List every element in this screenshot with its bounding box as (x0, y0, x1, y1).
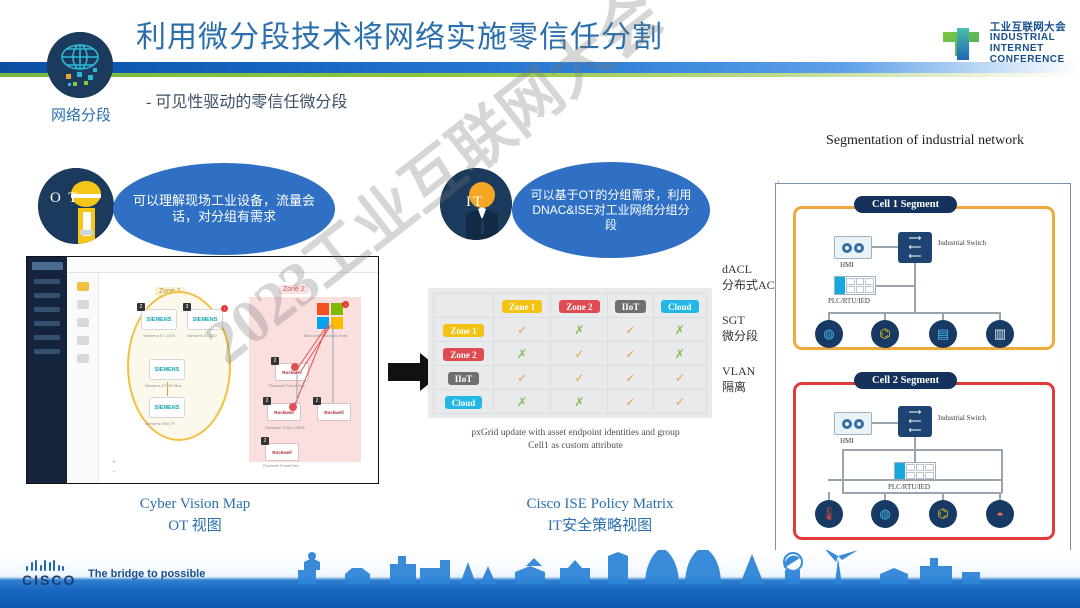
conference-logo: 工业互联网大会 INDUSTRIAL INTERNET CONFERENCE (939, 22, 1066, 66)
sidebar-item[interactable] (34, 349, 60, 354)
policy-cell[interactable]: ✗ (653, 318, 706, 342)
siemens-device[interactable]: SIEMENS (187, 309, 223, 330)
device-gauge-cell1: ◍ (815, 320, 843, 348)
column-header-zone1: Zone 1 (494, 294, 551, 318)
cisco-bars-icon (26, 560, 76, 571)
page-subtitle: - 可见性驱动的零信任微分段 (146, 88, 347, 112)
hmi-label-cell1: HMI (840, 261, 854, 269)
bus-line (842, 449, 1002, 451)
alert-badge: ! (221, 305, 228, 312)
policy-cell[interactable]: ✗ (653, 342, 706, 366)
allow-icon: ✓ (574, 371, 584, 385)
conference-logo-mark (939, 22, 983, 66)
ot-speech-bubble: 可以理解现场工业设备，流量会话，对分组有需求 (113, 163, 335, 255)
allow-icon: ✓ (625, 371, 635, 385)
policy-cell[interactable]: ✓ (551, 342, 608, 366)
bus-line (828, 312, 1000, 314)
link-line (914, 263, 916, 313)
siemens-device[interactable]: SIEMENS (149, 359, 185, 380)
layout-icon[interactable] (77, 336, 89, 345)
device-gauge-cell2: ◍ (871, 500, 899, 528)
hmi-label-cell2: HMI (840, 437, 854, 445)
segmentation-diagram: Cell 1 Segment HMI ⟶ ⟵ ⟵ Industrial Swit… (775, 183, 1071, 555)
allow-icon: ✓ (625, 323, 635, 337)
row-header-iiot: IIoT (434, 366, 494, 390)
policy-matrix-body: Zone 1✓✗✓✗Zone 2✗✓✓✗IIoT✓✓✓✓Cloud✗✗✓✓ (434, 318, 707, 414)
cyber-vision-caption-en: Cyber Vision Map (90, 494, 300, 516)
policy-cell[interactable]: ✓ (608, 342, 653, 366)
policy-cell[interactable]: ✗ (494, 390, 551, 414)
export-icon[interactable] (77, 354, 89, 363)
alert-badge: ! (342, 301, 349, 308)
arrow-left-icon: ⟵ (909, 252, 922, 261)
row-header-zone2: Zone 2 (434, 342, 494, 366)
switch-label-cell2: Industrial Switch (938, 414, 986, 422)
plc-label-cell2: PLC/RTU/IED (888, 483, 930, 491)
policy-cell[interactable]: ✓ (653, 390, 706, 414)
cyber-vision-caption-cn: OT 视图 (90, 516, 300, 538)
matrix-corner-cell (434, 294, 494, 318)
bus-line (828, 479, 1002, 481)
cyber-vision-topbar (67, 257, 379, 273)
deny-icon: ✗ (574, 395, 584, 409)
policy-matrix-table: Zone 1 Zone 2 IIoT Cloud Zone 1✓✗✓✗Zone … (433, 293, 707, 414)
device-robot-arm-cell1: ⌬ (871, 320, 899, 348)
allow-icon: ✓ (517, 371, 527, 385)
gears-icon (838, 416, 868, 432)
rockwell-device[interactable]: Rockwell (265, 443, 299, 461)
ise-caption-en: Cisco ISE Policy Matrix (500, 494, 700, 516)
link-line (1001, 449, 1003, 493)
policy-cell[interactable]: ✓ (653, 366, 706, 390)
policy-cell[interactable]: ✓ (608, 318, 653, 342)
ot-persona-label: O T (50, 190, 79, 207)
row-header-zone1: Zone 1 (434, 318, 494, 342)
link-line (876, 285, 915, 287)
allow-icon: ✓ (625, 395, 635, 409)
device-caption: Siemens S7-300 (187, 333, 217, 338)
policy-cell[interactable]: ✗ (494, 342, 551, 366)
sidebar-item[interactable] (34, 279, 60, 284)
cisco-wordmark: CISCO (22, 572, 76, 588)
deny-icon: ✗ (675, 347, 685, 361)
zone2-label: Zone 2 (279, 285, 309, 294)
segmentation-title: Segmentation of industrial network (790, 131, 1060, 151)
header-accent-bar-green (0, 73, 1080, 77)
column-header-iiot: IIoT (608, 294, 653, 318)
link-line (872, 422, 898, 424)
allow-icon: ✓ (574, 347, 584, 361)
table-row: Zone 2✗✓✓✗ (434, 342, 707, 366)
device-badge: 2 (137, 303, 145, 311)
cell2-pill: Cell 2 Segment (854, 372, 957, 389)
filter-icon[interactable] (77, 300, 89, 309)
cisco-logo: CISCO (22, 560, 76, 588)
column-header-cloud: Cloud (653, 294, 706, 318)
cyber-vision-sidebar[interactable] (27, 257, 67, 483)
policy-cell[interactable]: ✓ (608, 366, 653, 390)
row-header-cloud: Cloud (434, 390, 494, 414)
switch-device-cell2: ⟶ ⟵ ⟵ (898, 406, 932, 437)
globe-network-icon (47, 32, 113, 98)
sidebar-item[interactable] (34, 335, 60, 340)
allow-icon: ✓ (517, 323, 527, 337)
allow-icon: ✓ (675, 371, 685, 385)
gears-icon (838, 240, 868, 256)
switch-device-cell1: ⟶ ⟵ ⟵ (898, 232, 932, 263)
allow-icon: ✓ (625, 347, 635, 361)
device-thermometer-cell2: 🌡 (815, 500, 843, 528)
policy-cell[interactable]: ✗ (551, 390, 608, 414)
switch-label-cell1: Industrial Switch (938, 239, 986, 247)
policy-cell[interactable]: ✓ (494, 318, 551, 342)
plc-label-cell1: PLC/RTU/IED (828, 297, 870, 305)
badge-label: 网络分段 (35, 104, 127, 125)
cyber-vision-caption: Cyber Vision Map OT 视图 (90, 494, 300, 538)
policy-cell[interactable]: ✓ (608, 390, 653, 414)
sidebar-item[interactable] (34, 307, 60, 312)
siemens-device[interactable]: SIEMENS (141, 309, 177, 330)
zoom-controls[interactable]: +− (109, 459, 119, 477)
policy-cell[interactable]: ✓ (551, 366, 608, 390)
ise-caption-block: Cisco ISE Policy Matrix IT安全策略视图 (500, 494, 700, 538)
cyber-vision-logo (32, 262, 63, 270)
device-badge: 2 (261, 437, 269, 445)
ise-caption-cn: IT安全策略视图 (500, 516, 700, 538)
deny-icon: ✗ (517, 395, 527, 409)
hmi-device-cell1 (834, 236, 872, 259)
cisco-tagline: The bridge to possible (88, 568, 205, 580)
connection-lines (267, 317, 357, 417)
policy-cell[interactable]: ✓ (494, 366, 551, 390)
device-caption: Rockwell 1769-L33ER (265, 425, 305, 430)
device-caption: Siemens HMI TP (145, 421, 175, 426)
it-persona-label: IT (466, 194, 484, 211)
device-panel-cell1: ▤ (929, 320, 957, 348)
device-boiler-cell2: ◓ (986, 500, 1014, 528)
deny-icon: ✗ (675, 323, 685, 337)
cyber-vision-map-screenshot[interactable]: Zone 1 SIEMENS 2 Siemens S7-1200 SIEMENS… (26, 256, 379, 484)
table-row: IIoT✓✓✓✓ (434, 366, 707, 390)
industry-skyline-silhouette (290, 550, 990, 584)
policy-cell[interactable]: ✗ (551, 318, 608, 342)
plc-device-cell1 (834, 276, 876, 295)
bus-line (842, 492, 1002, 494)
header-accent-bar-blue (0, 62, 1080, 73)
table-row: Zone 1✓✗✓✗ (434, 318, 707, 342)
group-icon[interactable] (77, 318, 89, 327)
it-speech-bubble: 可以基于OT的分组需求，利用DNAC&ISE对工业网络分组分段 (512, 162, 710, 258)
slide-footer: CISCO The bridge to possible (0, 550, 1080, 608)
ise-policy-matrix[interactable]: Zone 1 Zone 2 IIoT Cloud Zone 1✓✗✓✗Zone … (428, 288, 712, 418)
sidebar-item[interactable] (34, 321, 60, 326)
cell1-pill: Cell 1 Segment (854, 196, 957, 213)
deny-icon: ✗ (517, 347, 527, 361)
device-robot-arm-cell2: ⌬ (929, 500, 957, 528)
hmi-device-cell2 (834, 412, 872, 435)
pxgrid-note: pxGrid update with asset endpoint identi… (468, 427, 683, 453)
device-badge: 3 (183, 303, 191, 311)
link-line (167, 382, 168, 396)
database-icon[interactable] (77, 282, 89, 291)
conference-logo-line3: CONFERENCE (990, 55, 1066, 66)
link-line (842, 449, 844, 493)
allow-icon: ✓ (675, 395, 685, 409)
page-title: 利用微分段技术将网络实施零信任分割 (136, 12, 776, 56)
arrow-left-icon: ⟵ (909, 426, 922, 435)
cyber-vision-toolbar[interactable] (67, 273, 99, 484)
device-server-cell1: ▥ (986, 320, 1014, 348)
device-caption: Siemens S7-1200 (143, 333, 175, 338)
link-line (872, 246, 898, 248)
device-caption: Siemens ET200 Bus (145, 383, 181, 388)
sidebar-item[interactable] (34, 293, 60, 298)
table-header-row: Zone 1 Zone 2 IIoT Cloud (434, 294, 707, 318)
deny-icon: ✗ (574, 323, 584, 337)
siemens-device[interactable]: SIEMENS (149, 397, 185, 418)
table-row: Cloud✗✗✓✓ (434, 390, 707, 414)
device-caption: Rockwell PowerFlex (263, 463, 299, 468)
column-header-zone2: Zone 2 (551, 294, 608, 318)
